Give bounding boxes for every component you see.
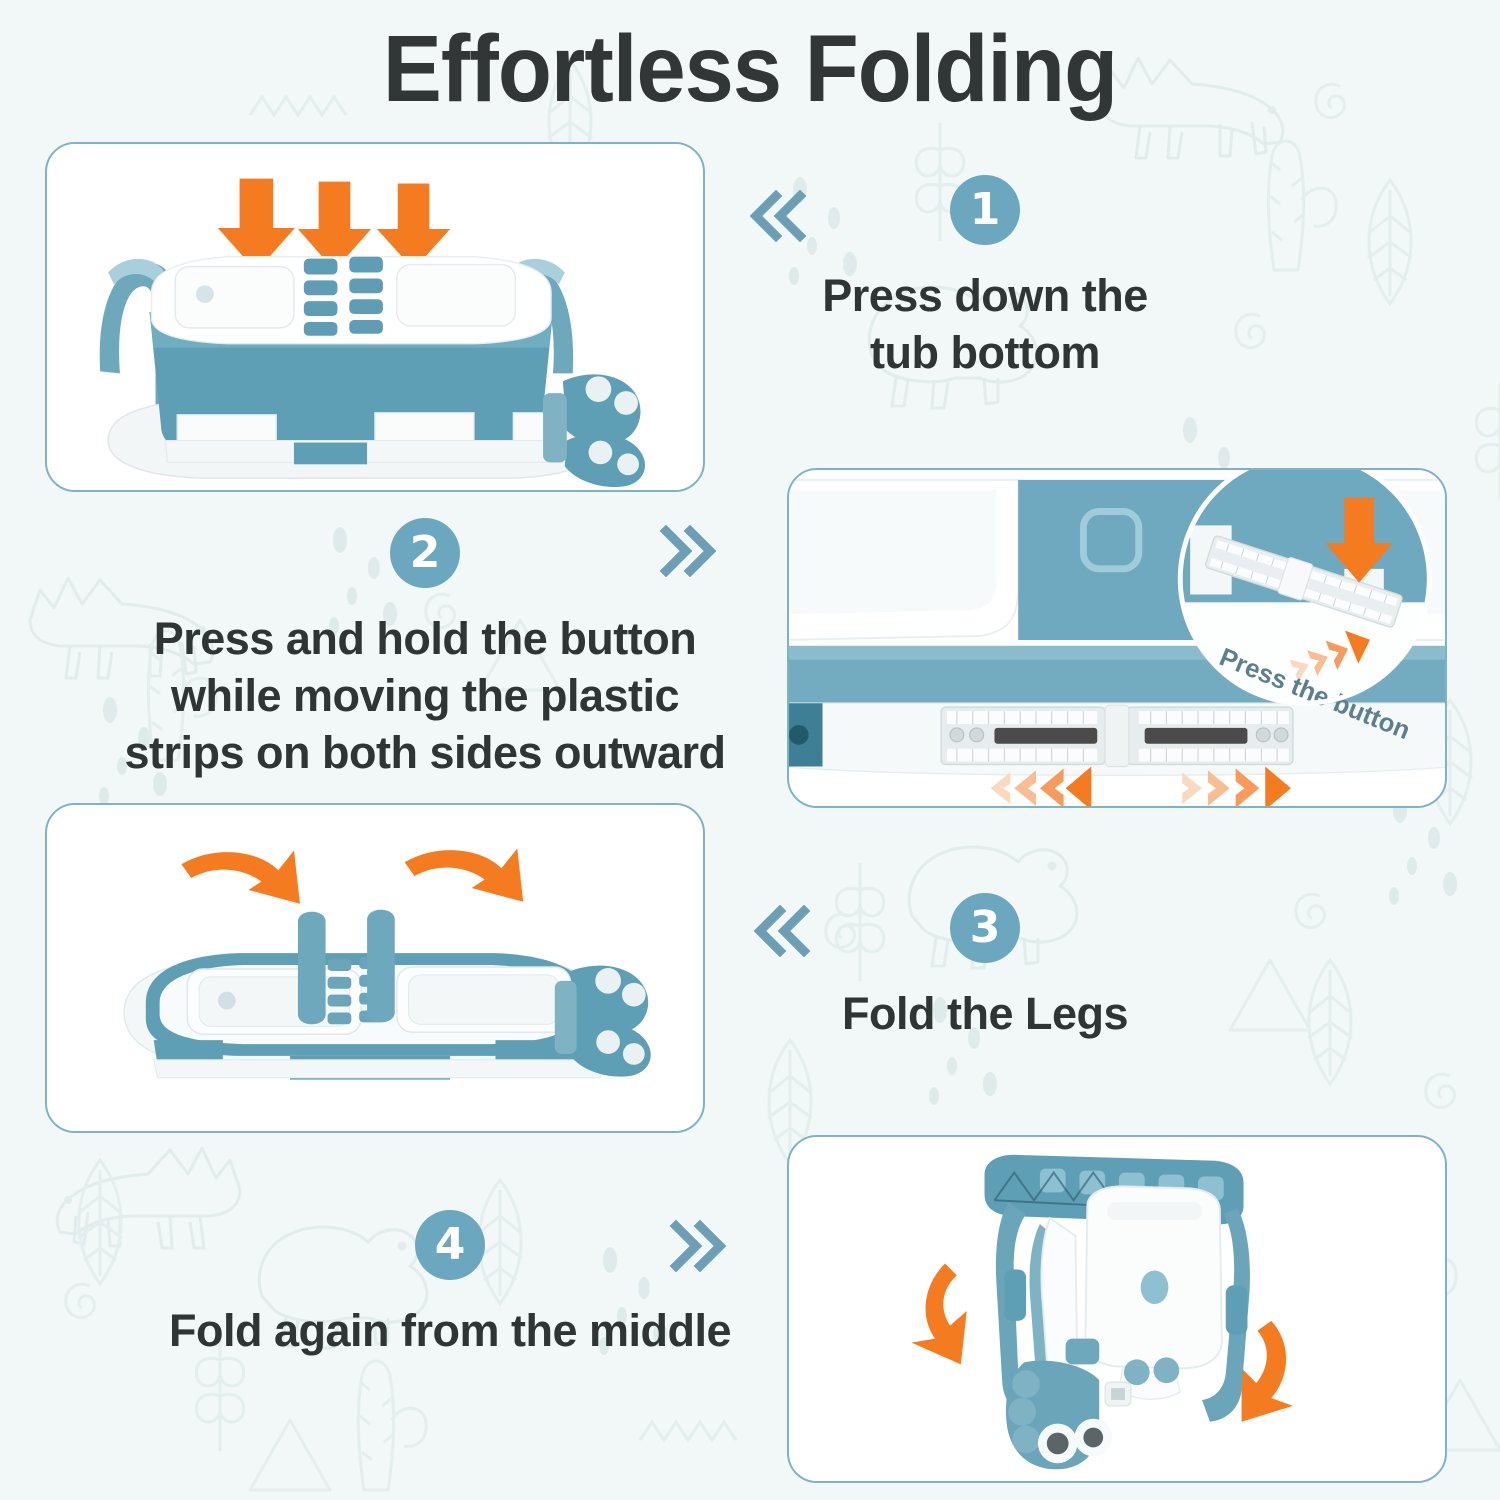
step-4-text: Fold again from the middle <box>125 1302 775 1359</box>
double-chevron-right-icon <box>658 525 718 577</box>
step-4-badge: 4 <box>415 1210 485 1280</box>
step-2-badge: 2 <box>390 518 460 588</box>
photo-step-4 <box>789 1137 1445 1481</box>
photo-card-step-2: Press the button <box>787 468 1447 808</box>
slide-strips <box>941 705 1293 766</box>
double-chevron-right-icon <box>668 1220 728 1272</box>
step-3-badge: 3 <box>950 893 1020 963</box>
step-1-text: Press down the tub bottom <box>750 267 1220 381</box>
double-chevron-left-icon <box>752 905 812 957</box>
photo-card-step-1 <box>45 142 705 492</box>
step-3: 3 Fold the Legs <box>760 893 1210 1042</box>
photo-card-step-4 <box>787 1135 1447 1483</box>
photo-step-2: Press the button <box>789 470 1445 806</box>
double-chevron-left-icon <box>748 190 808 242</box>
step-3-text: Fold the Legs <box>760 985 1210 1042</box>
step-2-text: Press and hold the button while moving t… <box>95 610 755 781</box>
step-2: 2 Press and hold the button while moving… <box>95 518 755 781</box>
step-1: 1 Press down the tub bottom <box>750 175 1220 381</box>
step-1-badge: 1 <box>950 175 1020 245</box>
page-title: Effortless Folding <box>53 14 1448 124</box>
photo-step-3 <box>47 805 703 1131</box>
photo-card-step-3 <box>45 803 705 1133</box>
photo-step-1 <box>47 144 703 490</box>
